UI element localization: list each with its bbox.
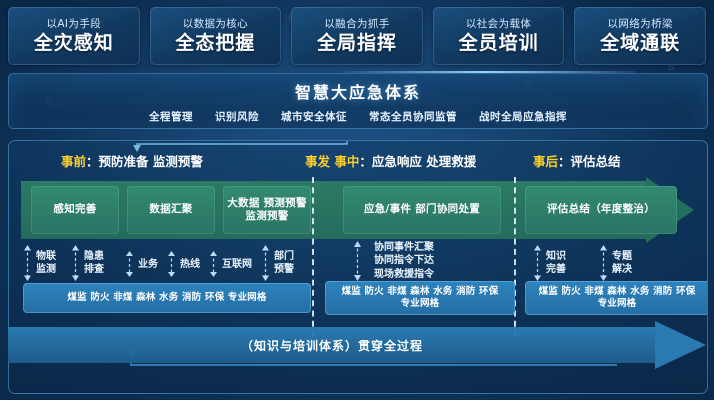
strategy-card-4[interactable]: 以网络为桥梁 全域通联 [574, 7, 706, 65]
channel-label: 专题 解决 [612, 250, 632, 276]
double-arrow-icon [533, 245, 542, 281]
capability-tag: 战时全局应急指挥 [479, 109, 567, 124]
channel-label: 业务 [138, 258, 158, 271]
channel-label: 隐患 排查 [84, 250, 104, 276]
process-step-data[interactable]: 数据汇聚 [127, 186, 215, 234]
channel-internet[interactable]: 互联网 [209, 251, 252, 277]
phase-detail: ：应急响应 处理救援 [359, 154, 476, 169]
strategy-card-3[interactable]: 以社会为载体 全员培训 [433, 7, 565, 65]
infographic-canvas: 0 1 0 0 1 0 1 0 0 1 以AI为手段 全灾感知 以数据为核心 全… [0, 0, 714, 400]
strategy-card-title: 全灾感知 [34, 34, 114, 53]
capability-tag-list: 全程管理 识别风险 城市安全体征 常态全员协同监管 战时全局应急指挥 [149, 109, 567, 124]
double-arrow-icon [261, 245, 270, 281]
knowledge-training-arrow[interactable]: （知识与培训体系）贯穿全过程 [8, 327, 706, 363]
bottom-arrow-head [655, 321, 706, 369]
strategy-card-row: 以AI为手段 全灾感知 以数据为核心 全态把握 以融合为抓手 全局指挥 以社会为… [8, 7, 706, 65]
channel-label: 协同事件汇聚 协同指令下达 现场救援指令 [374, 241, 434, 281]
double-arrow-icon [599, 245, 608, 281]
system-title-band: 智慧大应急体系 全程管理 识别风险 城市安全体征 常态全员协同监管 战时全局应急… [8, 73, 708, 129]
process-step-perception[interactable]: 感知完善 [31, 186, 119, 234]
phase-detail: ：评估总结 [558, 154, 621, 169]
phase-title-during: 事发 事中：应急响应 处理救援 [305, 151, 476, 170]
process-arrow-band: 感知完善 数据汇聚 大数据 预测预警 监测预警 应急/事件 部门协同处置 评估总… [21, 181, 695, 239]
capability-tag: 识别风险 [215, 109, 259, 124]
phase-keyword: 事发 事中 [305, 154, 359, 169]
domain-bar-during[interactable]: 煤监 防火 非煤 森林 水务 消防 环保 专业网格 [325, 281, 515, 315]
double-arrow-icon [167, 251, 176, 277]
double-arrow-icon [23, 245, 32, 281]
channel-department-alert[interactable]: 部门 预警 [261, 245, 294, 281]
double-arrow-icon [209, 251, 218, 277]
channel-coordination[interactable]: 协同事件汇聚 协同指令下达 现场救援指令 [353, 241, 434, 281]
phase-keyword: 事后 [533, 154, 558, 169]
process-step-bigdata[interactable]: 大数据 预测预警 监测预警 [223, 186, 311, 234]
domain-bar-after[interactable]: 煤监 防火 非煤 森林 水务 消防 环保 专业网格 [525, 281, 708, 315]
channel-iot-monitoring[interactable]: 物联 监测 [23, 245, 56, 281]
strategy-card-subtitle: 以数据为核心 [183, 19, 248, 30]
process-step-assessment[interactable]: 评估总结（年度整治） [525, 186, 677, 234]
channel-label: 知识 完善 [546, 250, 566, 276]
strategy-card-2[interactable]: 以融合为抓手 全局指挥 [291, 7, 423, 65]
phase-title-after: 事后：评估总结 [533, 151, 621, 170]
capability-tag: 常态全员协同监管 [369, 109, 457, 124]
phase-keyword: 事前 [61, 154, 86, 169]
capability-tag: 全程管理 [149, 109, 193, 124]
channel-label: 热线 [180, 258, 200, 271]
channel-topic-solution[interactable]: 专题 解决 [599, 245, 632, 281]
double-arrow-icon [353, 241, 362, 281]
strategy-card-subtitle: 以融合为抓手 [324, 19, 389, 30]
double-arrow-icon [125, 251, 134, 277]
bottom-arrow-wrap: （知识与培训体系）贯穿全过程 [8, 328, 706, 364]
capability-tag: 城市安全体征 [281, 109, 347, 124]
channel-hazard-inspection[interactable]: 隐患 排查 [71, 245, 104, 281]
page-title: 智慧大应急体系 [295, 79, 421, 103]
strategy-card-subtitle: 以社会为载体 [466, 19, 531, 30]
phase-title-row: 事前：预防准备 监测预警 事发 事中：应急响应 处理救援 事后：评估总结 [9, 151, 707, 173]
channel-label: 部门 预警 [274, 250, 294, 276]
strategy-card-title: 全局指挥 [317, 34, 397, 53]
channel-knowledge[interactable]: 知识 完善 [533, 245, 566, 281]
strategy-card-title: 全员培训 [459, 34, 539, 53]
strategy-card-title: 全域通联 [600, 34, 680, 53]
double-arrow-icon [71, 245, 80, 281]
channel-hotline[interactable]: 热线 [167, 251, 200, 277]
strategy-card-0[interactable]: 以AI为手段 全灾感知 [8, 7, 140, 65]
strategy-card-subtitle: 以网络为桥梁 [607, 19, 672, 30]
strategy-card-title: 全态把握 [175, 34, 255, 53]
channel-business[interactable]: 业务 [125, 251, 158, 277]
channel-label: 互联网 [222, 258, 252, 271]
phase-detail: ：预防准备 监测预警 [86, 154, 203, 169]
domain-bar-before[interactable]: 煤监 防火 非煤 森林 水务 消防 环保 专业网格 [23, 283, 311, 313]
process-step-response[interactable]: 应急/事件 部门协同处置 [343, 186, 501, 234]
channel-label: 物联 监测 [36, 250, 56, 276]
bottom-arrow-label: （知识与培训体系）贯穿全过程 [8, 327, 656, 363]
phase-title-before: 事前：预防准备 监测预警 [61, 151, 203, 170]
strategy-card-subtitle: 以AI为手段 [46, 19, 101, 30]
strategy-card-1[interactable]: 以数据为核心 全态把握 [150, 7, 282, 65]
